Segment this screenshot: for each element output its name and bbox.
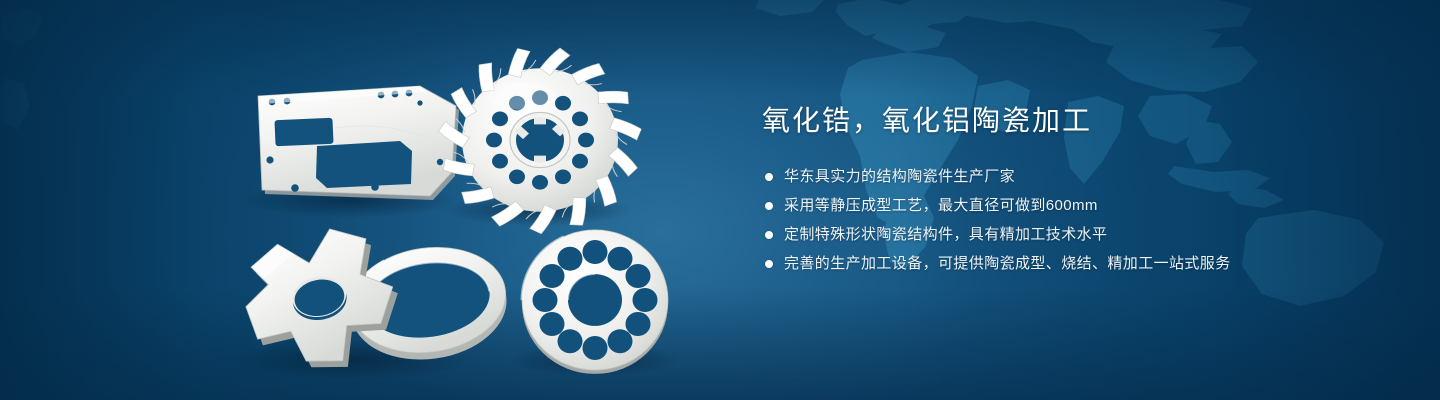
feature-text: 完善的生产加工设备，可提供陶瓷成型、烧结、精加工一站式服务 (784, 253, 1231, 274)
feature-list: 华东具实力的结构陶瓷件生产厂家 采用等静压成型工艺，最大直径可做到600mm 定… (762, 166, 1382, 274)
hero-banner: 氧化锆，氧化铝陶瓷加工 华东具实力的结构陶瓷件生产厂家 采用等静压成型工艺，最大… (0, 0, 1440, 400)
list-item: 华东具实力的结构陶瓷件生产厂家 (762, 166, 1382, 187)
bullet-dot-icon (765, 173, 773, 181)
feature-text: 华东具实力的结构陶瓷件生产厂家 (784, 166, 1015, 187)
bullet-dot-icon (765, 260, 773, 268)
ceramic-mounting-plate (258, 86, 459, 200)
bullet-dot-icon (765, 202, 773, 210)
list-item: 定制特殊形状陶瓷结构件，具有精加工技术水平 (762, 224, 1382, 245)
banner-copy: 氧化锆，氧化铝陶瓷加工 华东具实力的结构陶瓷件生产厂家 采用等静压成型工艺，最大… (762, 104, 1382, 274)
ceramic-products-image (0, 0, 720, 400)
ceramic-perforated-disc (522, 230, 668, 374)
page-title: 氧化锆，氧化铝陶瓷加工 (762, 104, 1382, 138)
list-item: 采用等静压成型工艺，最大直径可做到600mm (762, 195, 1382, 216)
bullet-dot-icon (765, 231, 773, 239)
feature-text: 采用等静压成型工艺，最大直径可做到600mm (784, 195, 1098, 216)
feature-text: 定制特殊形状陶瓷结构件，具有精加工技术水平 (784, 224, 1107, 245)
list-item: 完善的生产加工设备，可提供陶瓷成型、烧结、精加工一站式服务 (762, 253, 1382, 274)
